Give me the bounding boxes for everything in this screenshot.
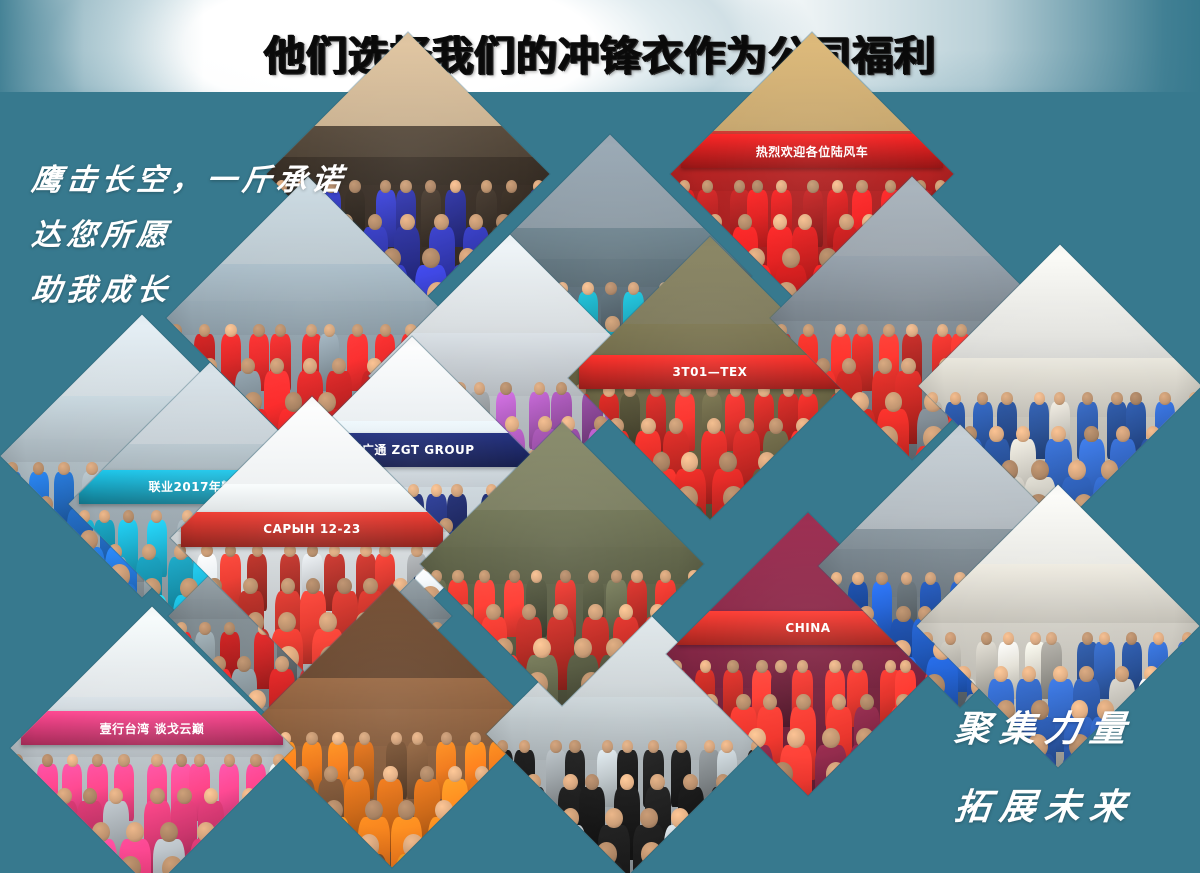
photo-person-body <box>236 801 262 873</box>
photo-person-head <box>262 834 283 858</box>
photo-person-body <box>1138 679 1164 752</box>
photo-person-body <box>14 801 40 873</box>
photo-person-head <box>832 426 853 450</box>
photo-person-body <box>744 787 770 860</box>
photo-person-head <box>692 842 713 866</box>
photo-person-head <box>711 808 729 828</box>
photo-person-body <box>489 854 527 868</box>
photo-person-head <box>455 834 476 858</box>
photo-person-body <box>683 862 721 873</box>
photo-person-body <box>1167 477 1199 528</box>
photo-person-head <box>467 638 485 658</box>
photo-person-head <box>73 578 91 598</box>
photo-person-body <box>520 787 546 860</box>
diamond-photo-collage: 热烈欢迎各位陆风车3T01—TEX联业2017年精英团队正广通 ZGT GROU… <box>0 86 1200 873</box>
page-title: 他们选择我们的冲锋衣作为公司福利 <box>0 22 1200 82</box>
photo-person-head <box>1174 460 1192 480</box>
photo-person-body <box>270 801 294 873</box>
photo-person-head <box>8 496 23 513</box>
photo-person-body <box>269 764 289 821</box>
slogan-left-line-2: 达您所愿 <box>30 210 175 254</box>
photo-person-body <box>502 817 534 868</box>
photo-person-body <box>849 745 881 796</box>
photo-person-body <box>493 787 519 860</box>
photo-person-body <box>252 779 278 852</box>
photo-person-head <box>23 856 44 873</box>
photo-person-head <box>916 762 937 786</box>
photo-person-body <box>254 854 292 868</box>
photo-person-body <box>2 509 28 582</box>
photo-person-body <box>785 469 817 520</box>
photo-person-body <box>1176 439 1200 512</box>
photo-person-head <box>310 834 331 858</box>
photo-person-body <box>1138 717 1170 768</box>
photo-person-body <box>458 817 490 868</box>
photo-person-body <box>1153 754 1191 768</box>
photo-person-head <box>291 800 309 820</box>
photo-person-head <box>257 800 275 820</box>
photo-person-head <box>268 822 286 842</box>
photo-person-body <box>1 547 33 598</box>
photo-person-body <box>489 825 521 873</box>
photo-person-head <box>509 800 527 820</box>
slogan-right-line-1: 聚集力量 <box>952 700 1137 752</box>
photo-person-head <box>65 564 86 588</box>
photo-person-body <box>726 862 764 873</box>
photo-person-body <box>11 764 28 821</box>
photo-person-body <box>52 801 78 873</box>
photo-person-head <box>921 728 939 748</box>
photo-person-body <box>251 817 283 868</box>
photo-person-body <box>1105 754 1143 768</box>
photo-person-body <box>747 750 767 807</box>
photo-person-head <box>767 486 788 510</box>
photo-person-body <box>1140 439 1166 512</box>
photo-person-body <box>261 839 293 873</box>
header-banner: 他们选择我们的冲锋衣作为公司福利 <box>0 0 1200 92</box>
photo-person-body <box>447 854 485 868</box>
photo-person-body <box>527 825 559 873</box>
photo-person-body <box>1172 717 1200 768</box>
photo-person-head <box>1161 734 1182 758</box>
photo-person-body <box>751 469 783 520</box>
photo-person-head <box>84 612 105 636</box>
photo-person-head <box>735 842 756 866</box>
photo-person-head <box>925 700 943 720</box>
photo-person-body <box>8 584 46 598</box>
photo-person-head <box>1182 426 1197 443</box>
photo-person-head <box>608 452 626 472</box>
photo-person-body <box>318 817 350 868</box>
photo-person-head <box>927 694 942 711</box>
photo-person-body <box>33 509 59 582</box>
photo-person-body <box>880 745 912 796</box>
photo-person-body <box>1112 514 1150 528</box>
photo-person-body <box>966 754 1004 768</box>
photo-person-head <box>255 856 276 873</box>
photo-person-head <box>11 822 29 842</box>
photo-person-head <box>1146 460 1164 480</box>
photo-person-head <box>830 418 845 435</box>
photo-person-body <box>469 779 495 852</box>
photo-person-head <box>43 530 61 550</box>
slogan-left-line-3: 助我成长 <box>30 265 175 309</box>
photo-person-head <box>77 544 92 561</box>
photo-person-body <box>890 707 916 780</box>
photo-person-head <box>20 788 35 805</box>
photo-person-body <box>289 779 315 852</box>
photo-person-body <box>555 825 587 873</box>
photo-person-body <box>76 632 114 646</box>
photo-person-head <box>868 762 889 786</box>
photo-person-body <box>36 547 68 598</box>
photo-person-body <box>860 782 898 796</box>
photo-person-body <box>790 431 816 504</box>
photo-person-body <box>918 717 950 768</box>
photo-person-body <box>284 817 316 868</box>
photo-person-head <box>1145 700 1163 720</box>
photo-person-body <box>223 839 255 873</box>
photo-person-body <box>824 446 862 460</box>
poster-root: 他们选择我们的冲锋衣作为公司福利 热烈欢迎各位陆风车3T01—TEX联业2017… <box>0 0 1200 873</box>
photo-person-head <box>17 564 38 588</box>
photo-person-head <box>749 774 764 791</box>
photo-person-body <box>302 854 340 868</box>
photo-person-body <box>710 787 736 860</box>
photo-person-head <box>465 800 483 820</box>
photo-person-head <box>499 774 514 791</box>
photo-person-head <box>1182 666 1197 683</box>
photo-person-head <box>740 808 758 828</box>
photo-person-body <box>492 862 530 873</box>
photo-person-head <box>230 822 248 842</box>
photo-person-body <box>733 825 765 873</box>
photo-person-body <box>2 472 22 529</box>
photo-person-head <box>276 788 291 805</box>
photo-person-body <box>69 595 98 646</box>
photo-person-body <box>825 431 851 504</box>
photo-person-body <box>830 394 850 451</box>
photo-person-body <box>1139 477 1171 528</box>
photo-person-head <box>1120 494 1141 518</box>
photo-person-head <box>498 834 519 858</box>
photo-person-head <box>828 452 846 472</box>
photo-person-body <box>759 506 797 520</box>
photo-person-head <box>1179 700 1197 720</box>
photo-person-head <box>924 734 945 758</box>
photo-person-head <box>676 604 691 621</box>
slogan-left-line-1: 鹰击长空，一斤承诺 <box>30 155 350 199</box>
photo-person-body <box>543 862 581 873</box>
photo-person-body <box>501 779 527 852</box>
photo-person-body <box>921 707 947 780</box>
photo-person-body <box>778 446 816 460</box>
photo-person-head <box>534 808 552 828</box>
photo-person-head <box>507 766 522 783</box>
photo-person-body <box>1176 679 1199 752</box>
photo-person-body <box>821 469 851 520</box>
photo-person-body <box>704 825 736 873</box>
photo-person-body <box>908 782 946 796</box>
photo-person-head <box>887 728 905 748</box>
photo-person-head <box>814 486 835 510</box>
photo-person-head <box>210 856 231 873</box>
photo-person-body <box>57 584 95 598</box>
photo-person-body <box>71 557 97 630</box>
photo-person-body <box>913 745 945 796</box>
photo-person-head <box>792 452 810 472</box>
photo-person-body <box>917 754 954 768</box>
photo-person-head <box>496 808 514 828</box>
photo-person-body <box>11 839 37 873</box>
photo-person-body <box>1184 402 1200 459</box>
photo-person-head <box>1171 494 1192 518</box>
photo-person-head <box>68 856 89 873</box>
photo-person-head <box>500 842 521 866</box>
photo-person-head <box>55 822 73 842</box>
photo-person-head <box>551 842 572 866</box>
photo-person-body <box>1163 514 1200 528</box>
photo-person-body <box>817 782 855 796</box>
slogan-right-line-2: 拓展未来 <box>952 778 1137 830</box>
photo-person-head <box>8 530 26 550</box>
photo-person-body <box>48 839 80 873</box>
photo-person-body <box>1177 642 1197 699</box>
